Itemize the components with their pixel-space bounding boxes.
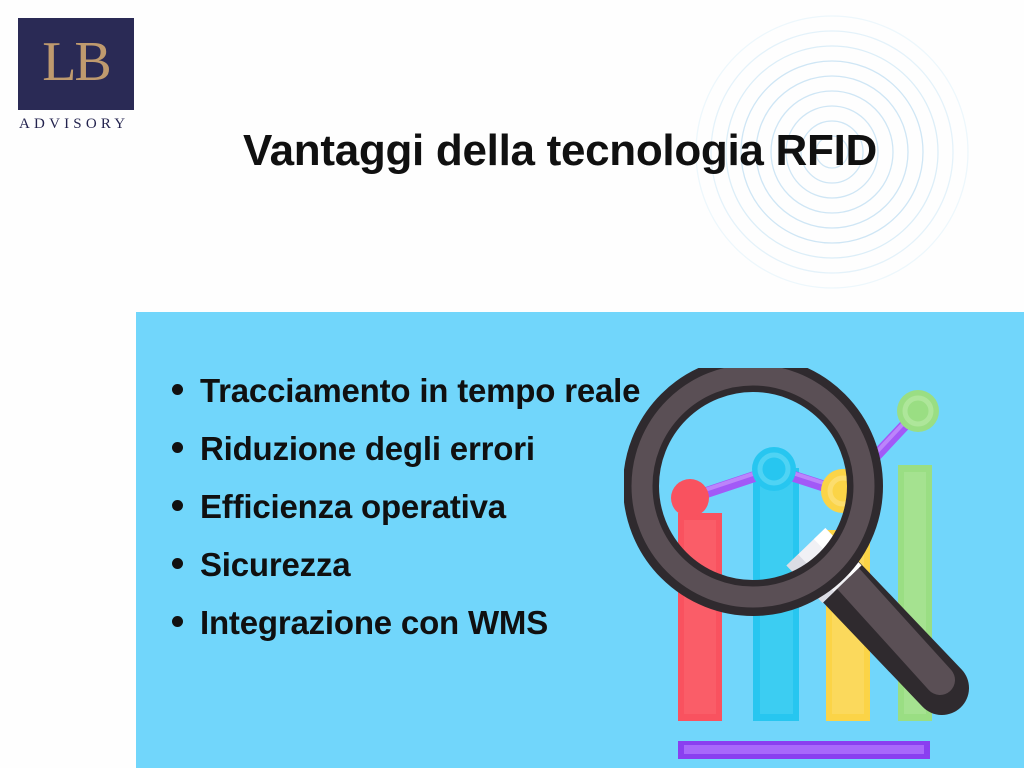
logo-mark-text: LB	[42, 34, 110, 94]
list-item: Tracciamento in tempo reale	[172, 372, 640, 430]
list-item-label: Tracciamento in tempo reale	[200, 372, 640, 410]
content-panel: Tracciamento in tempo reale Riduzione de…	[136, 312, 1024, 768]
bullet-dot-icon	[172, 616, 183, 627]
list-item-label: Sicurezza	[200, 546, 350, 584]
benefits-list: Tracciamento in tempo reale Riduzione de…	[172, 372, 640, 662]
list-item: Integrazione con WMS	[172, 604, 640, 662]
brand-logo: LB ADVISORY	[18, 18, 136, 133]
list-item: Sicurezza	[172, 546, 640, 604]
bullet-dot-icon	[172, 384, 183, 395]
slide-canvas: LB ADVISORY Vantaggi della tecnologia RF…	[0, 0, 1024, 768]
bullet-dot-icon	[172, 442, 183, 453]
list-item: Riduzione degli errori	[172, 430, 640, 488]
page-title: Vantaggi della tecnologia RFID	[150, 126, 970, 176]
list-item-label: Riduzione degli errori	[200, 430, 535, 468]
logo-subtitle: ADVISORY	[18, 116, 136, 133]
list-item-label: Efficienza operativa	[200, 488, 506, 526]
point-red	[671, 479, 709, 517]
bullet-dot-icon	[172, 558, 183, 569]
logo-mark: LB	[18, 18, 134, 110]
list-item: Efficienza operativa	[172, 488, 640, 546]
bullet-dot-icon	[172, 500, 183, 511]
chart-baseline	[678, 741, 930, 759]
list-item-label: Integrazione con WMS	[200, 604, 548, 642]
magnifying-glass-chart-illustration	[624, 368, 1024, 768]
